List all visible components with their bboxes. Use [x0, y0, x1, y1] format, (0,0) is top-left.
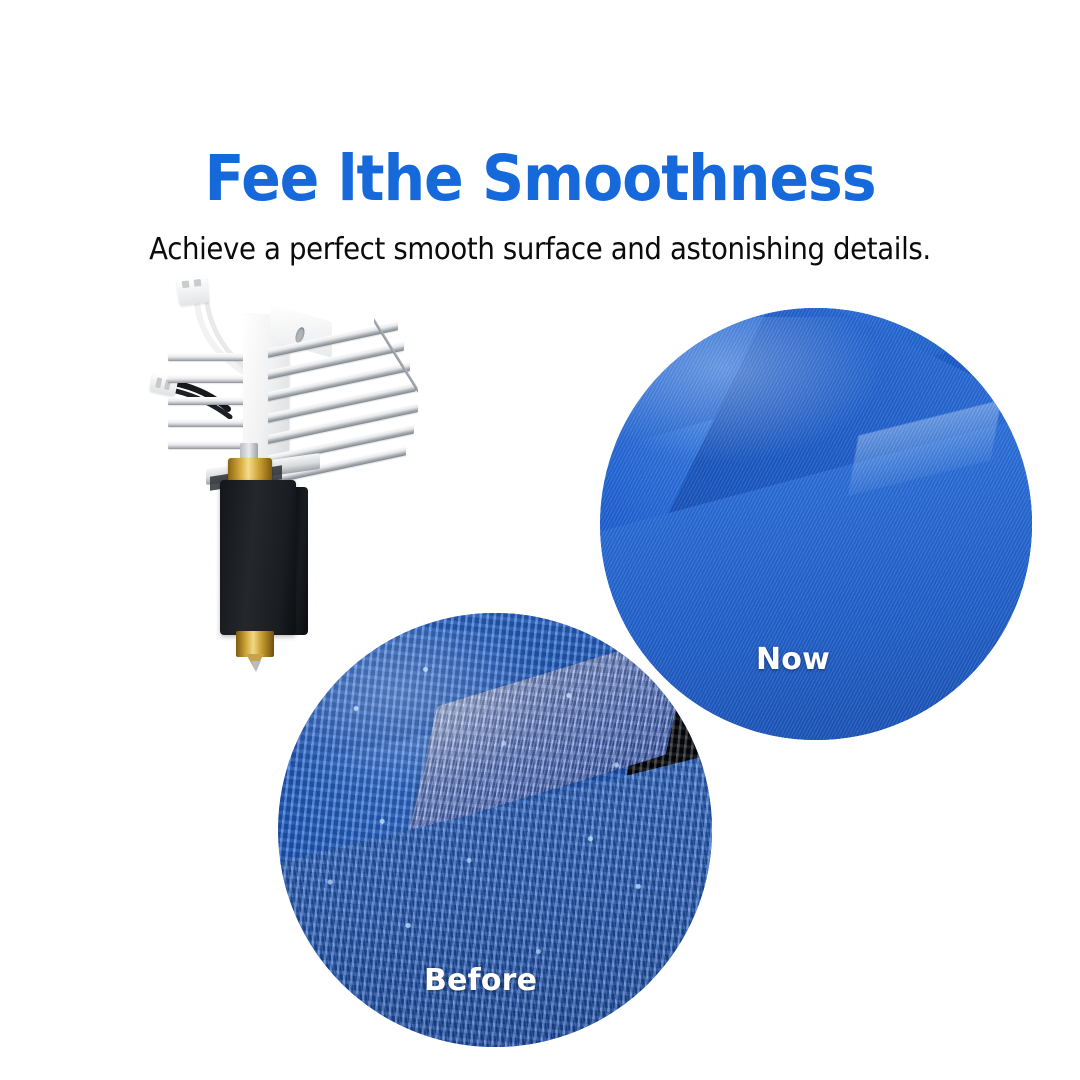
nozzle-tip-icon: [251, 661, 261, 672]
heater-block: [220, 480, 296, 635]
product-feature-poster: Fee lthe Smoothness Achieve a perfect sm…: [0, 0, 1080, 1080]
page-subtitle: Achieve a perfect smooth surface and ast…: [43, 232, 1037, 267]
label-now: Now: [756, 642, 830, 677]
before-specular-highlight: [287, 630, 547, 786]
label-before: Before: [424, 963, 537, 998]
connector-top-icon: [177, 276, 210, 305]
heatsink-fins-left: [168, 353, 250, 465]
page-title: Fee lthe Smoothness: [38, 147, 1042, 210]
now-specular-highlight: [617, 317, 885, 464]
